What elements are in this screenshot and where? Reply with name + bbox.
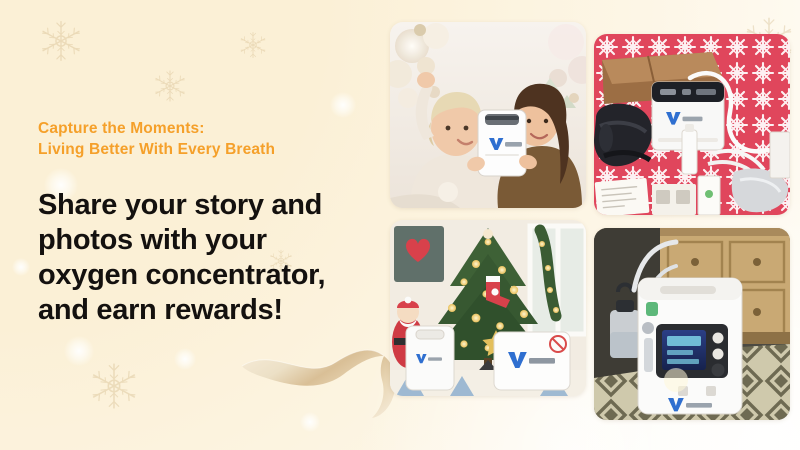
snowflake-icon (238, 30, 268, 60)
text-column: Capture the Moments: Living Better With … (38, 118, 358, 328)
snowflake-icon (38, 18, 84, 64)
promotional-banner: Capture the Moments: Living Better With … (0, 0, 800, 450)
bokeh-glow (64, 336, 94, 366)
bokeh-glow (12, 258, 30, 276)
snowflake-icon (88, 360, 140, 412)
eyebrow-text: Capture the Moments: Living Better With … (38, 118, 358, 160)
photo-family (390, 22, 586, 208)
bokeh-glow (330, 92, 356, 118)
headline-text: Share your story and photos with your ox… (38, 188, 358, 328)
photo-home (594, 228, 790, 420)
photo-tree (390, 220, 586, 396)
photo-unboxing (594, 34, 790, 215)
bokeh-glow (300, 412, 320, 432)
snowflake-icon (152, 68, 188, 104)
bokeh-glow (174, 348, 196, 370)
